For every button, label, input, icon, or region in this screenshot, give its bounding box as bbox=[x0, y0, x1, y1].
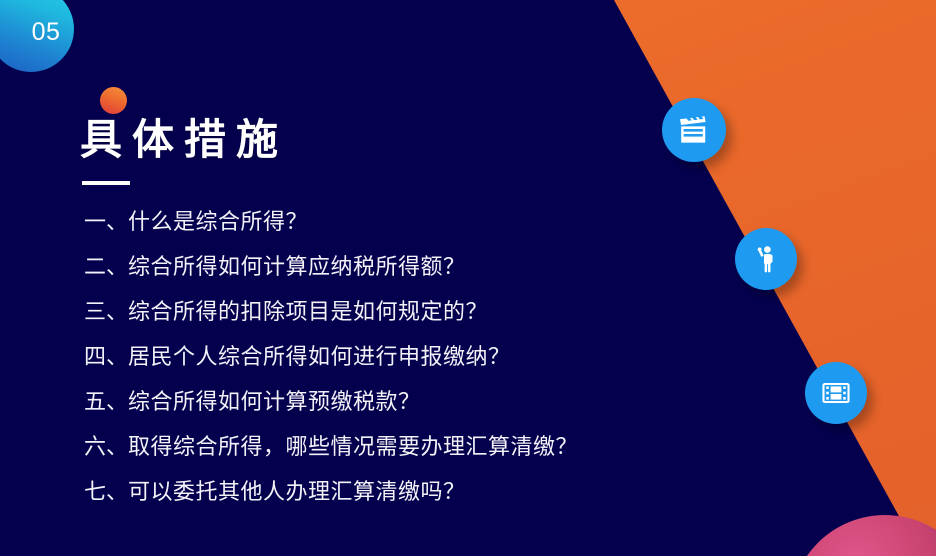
list-item-index: 七、 bbox=[84, 474, 128, 506]
person-waving-icon-bubble[interactable] bbox=[735, 228, 797, 290]
list-item-label: 什么是综合所得？ bbox=[128, 204, 308, 236]
list-item[interactable]: 七、 可以委托其他人办理汇算清缴吗？ bbox=[84, 474, 704, 519]
list-item-index: 五、 bbox=[84, 384, 128, 416]
slide-root: 05 具体措施 一、 什么是综合所得？ 二、 综合所得如何计算应纳税所得额？ 三… bbox=[0, 0, 936, 556]
accent-dot bbox=[100, 87, 127, 114]
list-item-label: 综合所得的扣除项目是如何规定的？ bbox=[128, 294, 488, 326]
clapperboard-icon-bubble[interactable] bbox=[662, 98, 726, 162]
list-item[interactable]: 四、 居民个人综合所得如何进行申报缴纳？ bbox=[84, 339, 704, 384]
page-title: 具体措施 bbox=[80, 116, 288, 164]
list-item-index: 四、 bbox=[84, 339, 128, 371]
person-waving-icon bbox=[750, 243, 782, 275]
list-item[interactable]: 一、 什么是综合所得？ bbox=[84, 204, 704, 249]
list-item-index: 三、 bbox=[84, 294, 128, 326]
list-item-index: 六、 bbox=[84, 429, 128, 461]
list-item-label: 可以委托其他人办理汇算清缴吗？ bbox=[128, 474, 466, 506]
clapperboard-icon bbox=[677, 113, 711, 147]
list-item[interactable]: 五、 综合所得如何计算预缴税款？ bbox=[84, 384, 704, 429]
list-item[interactable]: 二、 综合所得如何计算应纳税所得额？ bbox=[84, 249, 704, 294]
list-item-index: 二、 bbox=[84, 249, 128, 281]
film-strip-icon bbox=[820, 377, 852, 409]
list-item-label: 居民个人综合所得如何进行申报缴纳？ bbox=[128, 339, 511, 371]
agenda-list: 一、 什么是综合所得？ 二、 综合所得如何计算应纳税所得额？ 三、 综合所得的扣… bbox=[84, 204, 704, 519]
film-strip-icon-bubble[interactable] bbox=[805, 362, 867, 424]
list-item-label: 综合所得如何计算预缴税款？ bbox=[128, 384, 421, 416]
section-number-label: 05 bbox=[18, 20, 74, 45]
list-item-index: 一、 bbox=[84, 204, 128, 236]
title-underline bbox=[82, 181, 130, 185]
list-item[interactable]: 三、 综合所得的扣除项目是如何规定的？ bbox=[84, 294, 704, 339]
list-item[interactable]: 六、 取得综合所得，哪些情况需要办理汇算清缴？ bbox=[84, 429, 704, 474]
list-item-label: 取得综合所得，哪些情况需要办理汇算清缴？ bbox=[128, 429, 578, 461]
list-item-label: 综合所得如何计算应纳税所得额？ bbox=[128, 249, 466, 281]
